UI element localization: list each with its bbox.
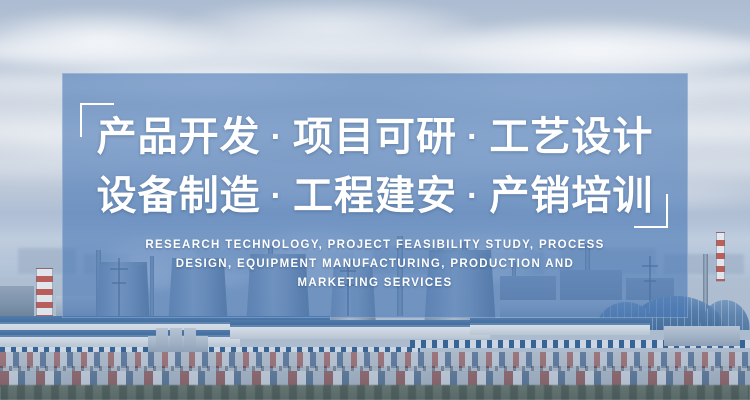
banner-image: 产品开发·项目可研·工艺设计 设备制造·工程建安·产销培训 RESEARCH T… (0, 0, 750, 400)
headline-separator: · (457, 177, 489, 215)
factory-hall (470, 323, 650, 335)
headline-separator: · (261, 177, 293, 215)
silo (184, 328, 196, 354)
headline-segment: 产销培训 (489, 174, 653, 218)
headline-line-2: 设备制造·工程建安·产销培训 (62, 176, 688, 216)
headline-segment: 工艺设计 (489, 115, 653, 159)
headline-segment: 项目可研 (293, 115, 457, 159)
silo (170, 328, 182, 354)
subtitle-line-2: DESIGN, EQUIPMENT MANUFACTURING, PRODUCT… (140, 255, 610, 274)
plant-building (0, 286, 34, 316)
subtitle-line-1: RESEARCH TECHNOLOGY, PROJECT FEASIBILITY… (140, 236, 610, 255)
headline-segment: 设备制造 (97, 174, 261, 218)
headline-separator: · (457, 118, 489, 156)
subtitle-line-3: MARKETING SERVICES (140, 274, 610, 293)
silo (156, 328, 168, 354)
office-building (664, 326, 740, 346)
headline-segment: 工程建安 (293, 174, 457, 218)
tree-line (0, 385, 750, 400)
headline-segment: 产品开发 (97, 115, 261, 159)
headline-line-1: 产品开发·项目可研·工艺设计 (62, 117, 688, 157)
factory-hall (230, 325, 490, 339)
headline-separator: · (261, 118, 293, 156)
subtitle-block: RESEARCH TECHNOLOGY, PROJECT FEASIBILITY… (140, 236, 610, 293)
striped-chimney (716, 232, 725, 282)
